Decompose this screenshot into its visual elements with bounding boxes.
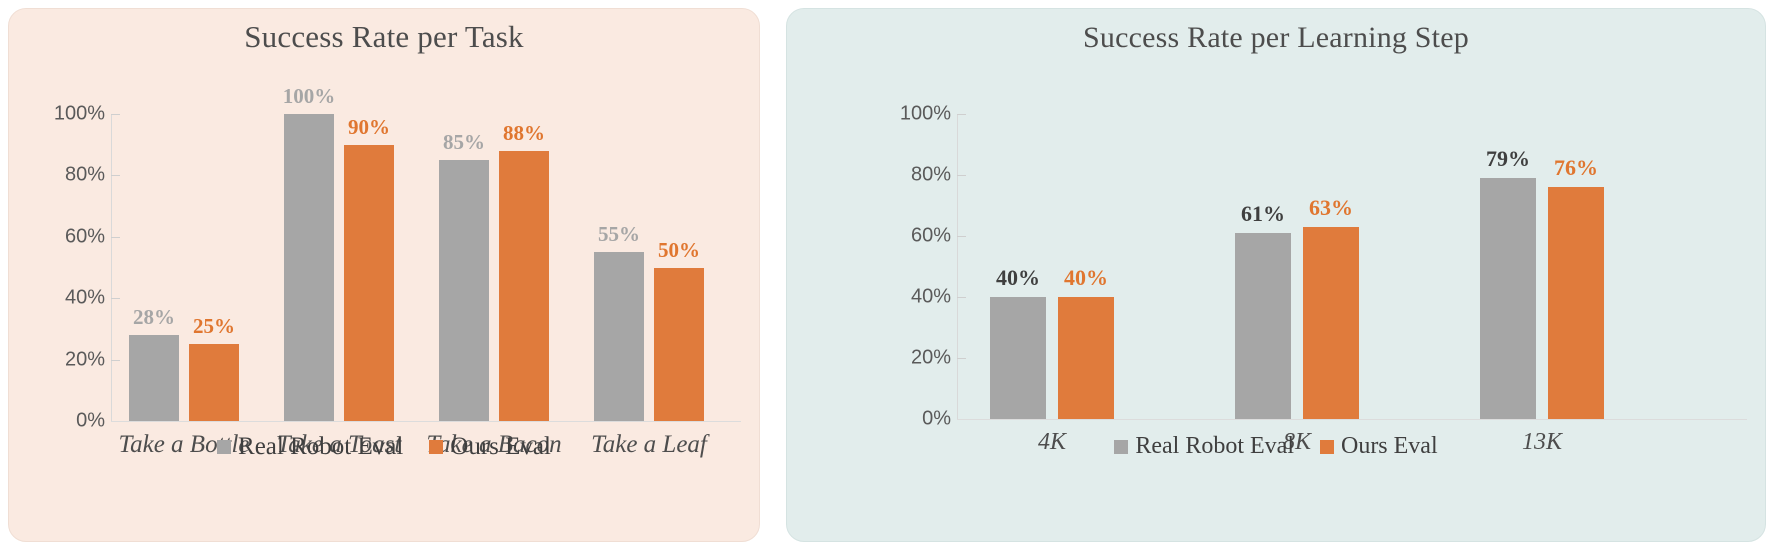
x-axis-baseline [111, 421, 741, 422]
legend-swatch-icon [217, 440, 231, 454]
y-axis-tick-mark [957, 297, 966, 298]
bar-value-label: 88% [503, 121, 545, 146]
bar-ours-eval[interactable] [344, 145, 394, 421]
y-axis-tick-label: 80% [33, 164, 105, 187]
legend-label: Real Robot Eval [1135, 433, 1294, 460]
bar-value-label: 55% [598, 222, 640, 247]
y-axis-tick-label: 60% [879, 225, 951, 248]
y-axis-tick-mark [111, 237, 120, 238]
bar-value-label: 61% [1241, 201, 1285, 227]
bar-real-robot-eval[interactable] [594, 252, 644, 421]
bar-value-label: 76% [1554, 155, 1598, 181]
y-axis-line [111, 114, 112, 421]
page-title-right: Success Rate per Learning Step [787, 21, 1765, 55]
bar-value-label: 40% [996, 265, 1040, 291]
y-axis-line [957, 114, 958, 419]
legend-item-ours-eval[interactable]: Ours Eval [1320, 433, 1438, 460]
y-axis-tick-mark [111, 175, 120, 176]
y-axis-tick-label: 40% [879, 286, 951, 309]
bar-real-robot-eval[interactable] [284, 114, 334, 421]
y-axis-tick-label: 100% [879, 103, 951, 126]
legend-item-real-robot-eval[interactable]: Real Robot Eval [1114, 433, 1294, 460]
legend-swatch-icon [1320, 440, 1334, 454]
bar-value-label: 90% [348, 115, 390, 140]
panel-success-rate-per-learning-step: Success Rate per Learning Step 0%20%40%6… [786, 8, 1766, 542]
bar-real-robot-eval[interactable] [439, 160, 489, 421]
y-axis-tick-label: 80% [879, 164, 951, 187]
legend-label: Ours Eval [450, 433, 551, 461]
y-axis-tick-mark [111, 298, 120, 299]
legend-label: Real Robot Eval [238, 433, 403, 461]
bar-ours-eval[interactable] [1548, 187, 1604, 419]
y-axis-tick-label: 0% [33, 410, 105, 433]
figure-canvas: Success Rate per Task 0%20%40%60%80%100%… [0, 0, 1774, 550]
y-axis-tick-label: 20% [33, 348, 105, 371]
plot-area-right: 0%20%40%60%80%100%40%40%4K61%63%8K79%76%… [857, 69, 1747, 424]
bar-real-robot-eval[interactable] [129, 335, 179, 421]
bar-ours-eval[interactable] [654, 268, 704, 422]
plot-area-left: 0%20%40%60%80%100%28%25%Take a Bottle100… [29, 69, 741, 424]
x-axis-baseline [957, 419, 1747, 420]
y-axis-tick-mark [957, 114, 966, 115]
bar-value-label: 25% [193, 314, 235, 339]
y-axis-tick-label: 60% [33, 225, 105, 248]
bar-ours-eval[interactable] [499, 151, 549, 421]
legend-item-ours-eval[interactable]: Ours Eval [429, 433, 551, 461]
y-axis-tick-label: 40% [33, 287, 105, 310]
y-axis-tick-mark [957, 175, 966, 176]
bar-value-label: 50% [658, 238, 700, 263]
page-title-left: Success Rate per Task [9, 19, 759, 55]
bar-real-robot-eval[interactable] [1480, 178, 1536, 419]
legend-right: Real Robot Eval Ours Eval [787, 433, 1765, 460]
legend-swatch-icon [1114, 440, 1128, 454]
legend-left: Real Robot Eval Ours Eval [9, 433, 759, 461]
y-axis-tick-mark [957, 236, 966, 237]
y-axis-tick-label: 100% [33, 103, 105, 126]
y-axis-tick-mark [957, 358, 966, 359]
y-axis-tick-label: 0% [879, 408, 951, 431]
bar-value-label: 63% [1309, 195, 1353, 221]
panel-success-rate-per-task: Success Rate per Task 0%20%40%60%80%100%… [8, 8, 760, 542]
y-axis-tick-label: 20% [879, 347, 951, 370]
bar-real-robot-eval[interactable] [990, 297, 1046, 419]
bar-ours-eval[interactable] [189, 344, 239, 421]
bar-real-robot-eval[interactable] [1235, 233, 1291, 419]
bar-value-label: 100% [283, 84, 336, 109]
bar-value-label: 79% [1486, 146, 1530, 172]
bar-ours-eval[interactable] [1303, 227, 1359, 419]
bar-value-label: 28% [133, 305, 175, 330]
legend-label: Ours Eval [1341, 433, 1438, 460]
bar-value-label: 85% [443, 130, 485, 155]
bar-value-label: 40% [1064, 265, 1108, 291]
legend-item-real-robot-eval[interactable]: Real Robot Eval [217, 433, 403, 461]
y-axis-tick-mark [111, 114, 120, 115]
bar-ours-eval[interactable] [1058, 297, 1114, 419]
legend-swatch-icon [429, 440, 443, 454]
y-axis-tick-mark [111, 360, 120, 361]
